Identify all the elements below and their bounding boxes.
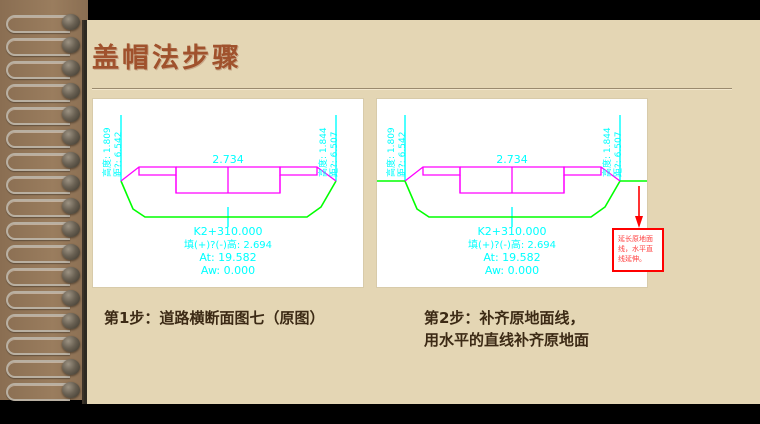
right-height-label: 高度: 1.844 bbox=[317, 127, 329, 177]
caption-step-1: 第1步：道路横断面图七（原图） bbox=[104, 308, 324, 330]
station-label: K2+310.000 bbox=[478, 225, 547, 238]
aw-label: Aw: 0.000 bbox=[485, 264, 539, 277]
title-divider bbox=[92, 88, 732, 90]
cross-section-svg-2: 2.734 高度: 1.809 距?: 6.542 高度: 1.844 距?: … bbox=[377, 99, 647, 287]
left-shoulder bbox=[121, 167, 176, 181]
right-height-label: 高度: 1.844 bbox=[601, 127, 613, 177]
fill-cut-label: 填(+)?(-)高: 2.694 bbox=[184, 238, 272, 251]
right-distance-label: 距?: 6.507 bbox=[613, 132, 624, 177]
notebook-cover-strip bbox=[0, 0, 88, 400]
cross-section-svg-1: 2.734 高度: 1.809 距?: 6.542 高度: 1.844 距?: … bbox=[93, 99, 363, 287]
left-distance-label: 距?: 6.542 bbox=[113, 132, 124, 177]
left-shoulder bbox=[405, 167, 460, 181]
callout-arrow-icon bbox=[634, 186, 644, 228]
center-width-label: 2.734 bbox=[212, 153, 244, 166]
station-label: K2+310.000 bbox=[194, 225, 263, 238]
left-height-label: 高度: 1.809 bbox=[101, 127, 113, 177]
right-distance-label: 距?: 6.507 bbox=[329, 132, 340, 177]
callout-box: 延长原地面线，水平直线延伸。 bbox=[612, 228, 664, 272]
left-height-label: 高度: 1.809 bbox=[385, 127, 397, 177]
page-title: 盖帽法步骤 bbox=[92, 36, 242, 75]
fill-cut-label: 填(+)?(-)高: 2.694 bbox=[468, 238, 556, 251]
caption-step-2: 第2步：补齐原地面线， 用水平的直线补齐原地面 bbox=[424, 308, 589, 352]
page-edge-shadow bbox=[84, 20, 87, 404]
center-width-label: 2.734 bbox=[496, 153, 528, 166]
at-label: At: 19.582 bbox=[199, 251, 256, 264]
aw-label: Aw: 0.000 bbox=[201, 264, 255, 277]
diagram-panel-original[interactable]: 2.734 高度: 1.809 距?: 6.542 高度: 1.844 距?: … bbox=[92, 98, 364, 288]
left-distance-label: 距?: 6.542 bbox=[397, 132, 408, 177]
at-label: At: 19.582 bbox=[483, 251, 540, 264]
diagram-panel-extended[interactable]: 2.734 高度: 1.809 距?: 6.542 高度: 1.844 距?: … bbox=[376, 98, 648, 288]
slide-root: 盖帽法步骤 bbox=[0, 0, 760, 424]
